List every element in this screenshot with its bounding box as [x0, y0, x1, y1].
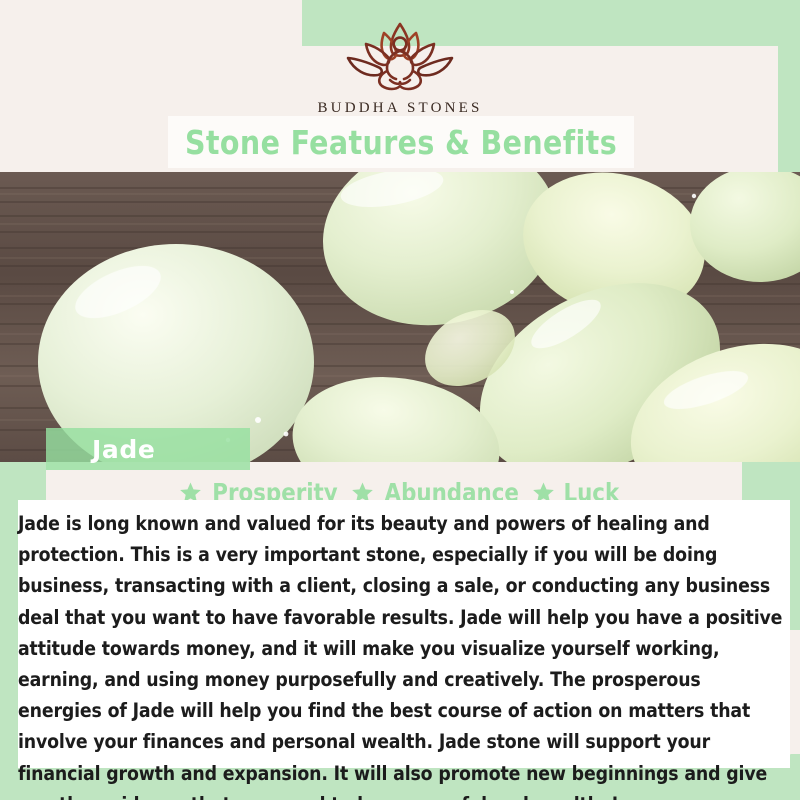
brand-logo: BUDDHA STONES — [0, 18, 800, 117]
stone-description: Jade is long known and valued for its be… — [18, 508, 790, 800]
lotus-meditation-icon — [332, 18, 468, 96]
stone-name-banner: Jade — [46, 428, 250, 470]
title-banner: Stone Features & Benefits — [168, 116, 634, 168]
brand-name: BUDDHA STONES — [0, 100, 800, 117]
stone-info-poster: BUDDHA STONES Stone Features & Benefits — [0, 0, 800, 800]
photo-illustration — [0, 172, 800, 462]
jade-tumbled-stones-photo — [0, 172, 800, 462]
stone-name: Jade — [46, 435, 155, 464]
page-title: Stone Features & Benefits — [185, 123, 617, 162]
